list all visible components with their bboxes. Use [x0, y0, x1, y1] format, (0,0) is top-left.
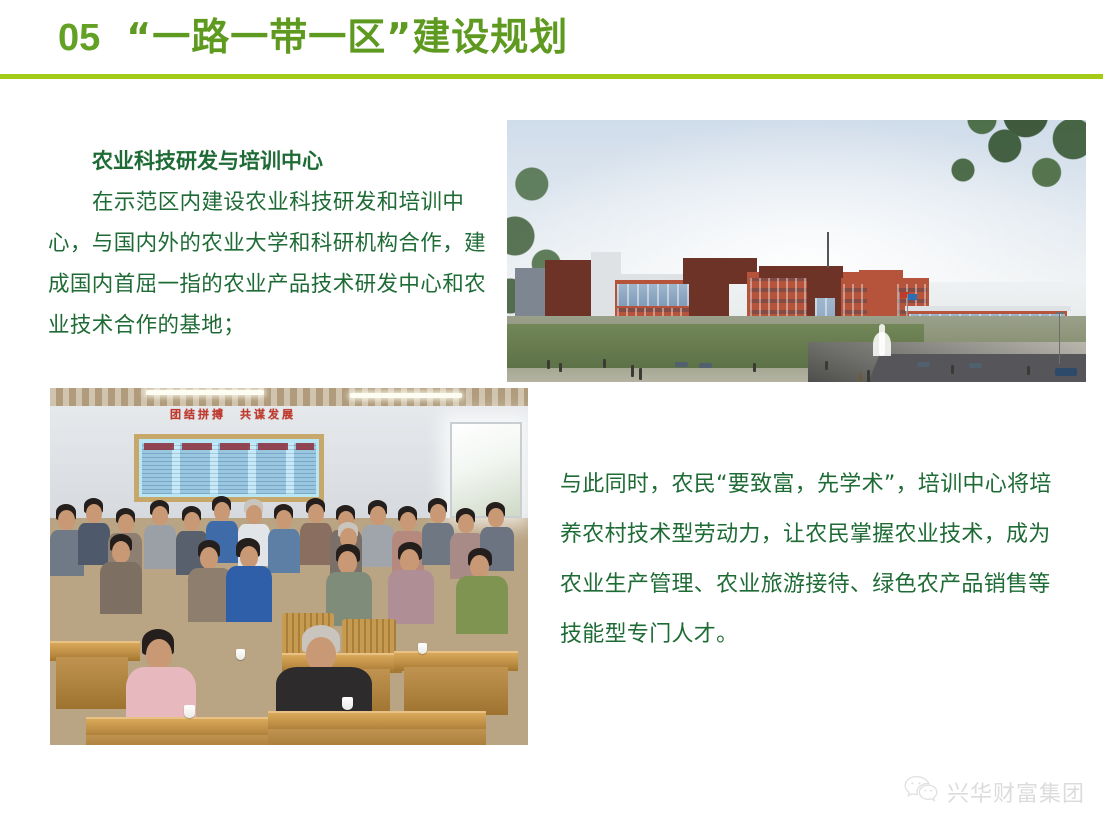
watermark-text: 兴华财富集团 [947, 776, 1085, 808]
person-body [144, 525, 176, 569]
person-head [400, 512, 416, 531]
desk-front-panel [56, 657, 128, 709]
flag-2 [908, 294, 917, 300]
person-head [338, 551, 357, 574]
building-right-parapet [859, 270, 903, 282]
person-figure [1027, 366, 1030, 375]
person-figure [603, 359, 606, 368]
person-head [308, 504, 324, 523]
desk-front-panel [268, 729, 486, 745]
person-head [458, 514, 474, 533]
person-head [118, 514, 134, 533]
car-figure [969, 363, 982, 368]
person-body [268, 529, 300, 573]
ceiling [50, 388, 528, 408]
person-head [112, 541, 130, 563]
header-divider [0, 74, 1103, 79]
paper-cup [342, 697, 353, 710]
person-head [146, 639, 172, 670]
desk-front-panel [86, 735, 282, 745]
person-figure [825, 361, 828, 370]
car-figure [1055, 368, 1077, 376]
person-head [400, 549, 419, 572]
roof-edge-right-wing [905, 306, 1071, 311]
notice-board-columns [142, 443, 316, 494]
car-figure [675, 362, 688, 367]
left-text-block: 农业科技研发与培训中心 在示范区内建设农业科技研发和培训中心，与国内外的农业大学… [48, 146, 488, 346]
classroom-training-image: 团结拼搏 共谋发展 [50, 388, 528, 745]
classroom-notice-board [134, 434, 324, 502]
paper-cup [236, 649, 245, 660]
ceiling-light [146, 390, 264, 395]
person-figure [951, 365, 954, 374]
slide-header: 05“一路一带一区”建设规划 [0, 0, 1111, 78]
person-head [200, 547, 218, 569]
person-figure [867, 370, 870, 382]
person-head [246, 505, 262, 524]
person-figure [859, 373, 862, 382]
person-figure [559, 363, 562, 372]
classroom-banner-text: 团结拼搏 共谋发展 [138, 406, 328, 422]
person-head [184, 512, 200, 531]
classroom-desks [50, 595, 528, 745]
tree-foliage-top-right [906, 120, 1086, 218]
person-body [362, 525, 394, 567]
person-figure [547, 360, 550, 369]
person-head [306, 637, 336, 671]
section-number: 05 [58, 17, 100, 59]
car-figure [699, 363, 712, 368]
right-text-block: 与此同时，农民“要致富，先学术”，培训中心将培养农村技术型劳动力，让农民掌握农业… [560, 460, 1060, 660]
road-area [866, 354, 1086, 382]
notice-board-headers [144, 443, 314, 450]
person-body [78, 523, 110, 565]
person-head [152, 506, 168, 525]
person-head [488, 508, 504, 527]
person-head [58, 510, 75, 530]
person-head [370, 506, 386, 525]
person-body [300, 523, 332, 565]
building-tower-cap [683, 258, 757, 284]
person-figure [631, 365, 634, 377]
desk-front-panel [404, 667, 508, 715]
antenna-mast [827, 232, 829, 268]
slide: 05“一路一带一区”建设规划 农业科技研发与培训中心 在示范区内建设农业科技研发… [0, 0, 1111, 832]
person-head [240, 546, 258, 568]
paper-cup [184, 705, 195, 718]
page-title: 05“一路一带一区”建设规划 [58, 12, 568, 63]
wechat-icon [904, 775, 938, 808]
person-figure [639, 368, 642, 380]
person-head [276, 510, 292, 529]
right-body-text: 与此同时，农民“要致富，先学术”，培训中心将培养农村技术型劳动力，让农民掌握农业… [560, 460, 1060, 660]
ceiling-light [350, 393, 462, 398]
watermark: 兴华财富集团 [904, 775, 1085, 808]
person-head [86, 504, 102, 523]
street-lamp [1059, 312, 1060, 364]
person-head [214, 502, 230, 521]
person-figure [753, 363, 756, 372]
person-head [470, 555, 489, 578]
car-figure [917, 362, 930, 367]
paper-cup [418, 643, 427, 654]
architecture-rendering-image [507, 120, 1086, 382]
title-text: “一路一带一区”建设规划 [126, 15, 568, 59]
person-head [430, 504, 446, 523]
fountain-jet [879, 324, 885, 356]
left-heading: 农业科技研发与培训中心 [92, 146, 488, 176]
left-body-text: 在示范区内建设农业科技研发和培训中心，与国内外的农业大学和科研机构合作，建成国内… [48, 182, 488, 346]
